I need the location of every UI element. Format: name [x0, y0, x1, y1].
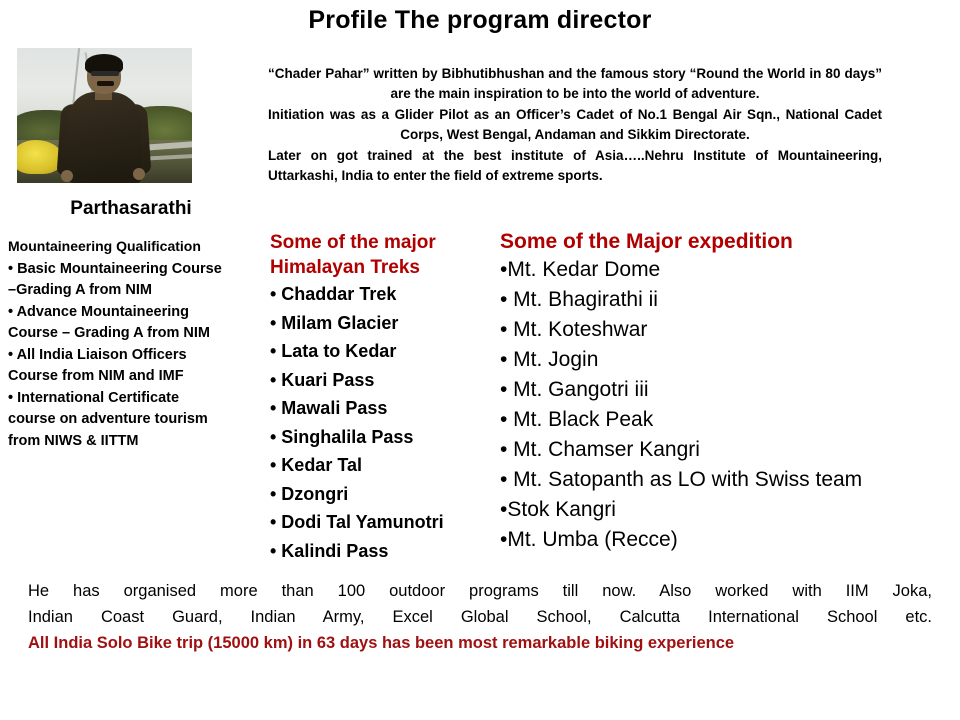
expedition-list-item: • Mt. Jogin	[500, 345, 950, 375]
qualification-line: • Advance Mountaineering	[8, 302, 260, 324]
qualification-line: course on adventure tourism	[8, 409, 260, 431]
trek-list-item: • Chaddar Trek	[270, 280, 492, 309]
qualification-line: –Grading A from NIM	[8, 280, 260, 302]
treks-heading-line-1: Some of the major	[270, 230, 492, 255]
trek-list-item: • Kalindi Pass	[270, 537, 492, 566]
photo-person-glasses	[91, 71, 119, 76]
profile-photo	[17, 48, 192, 183]
expedition-list-item: •Mt. Umba (Recce)	[500, 525, 950, 555]
qualifications-column: Mountaineering Qualification • Basic Mou…	[8, 236, 260, 452]
expedition-list-item: •Stok Kangri	[500, 495, 950, 525]
trek-list-item: • Lata to Kedar	[270, 337, 492, 366]
trek-list-item: • Mawali Pass	[270, 394, 492, 423]
treks-column: Some of the major Himalayan Treks • Chad…	[270, 230, 492, 565]
trek-list-item: • Kedar Tal	[270, 451, 492, 480]
qualifications-heading: Mountaineering Qualification	[8, 236, 260, 258]
expedition-list-item: • Mt. Koteshwar	[500, 315, 950, 345]
treks-heading-line-2: Himalayan Treks	[270, 255, 492, 280]
trek-list-item: • Milam Glacier	[270, 309, 492, 338]
expeditions-column: Some of the Major expedition •Mt. Kedar …	[500, 228, 950, 555]
trek-list-item: • Dodi Tal Yamunotri	[270, 508, 492, 537]
intro-paragraph-3: Later on got trained at the best institu…	[268, 146, 882, 186]
trek-list-item: • Dzongri	[270, 480, 492, 509]
photo-person-hand-left	[61, 170, 73, 182]
photo-person-torso	[69, 92, 141, 183]
trek-list-item: • Kuari Pass	[270, 366, 492, 395]
qualification-line: • International Certificate	[8, 388, 260, 410]
footer-line-1: He has organised more than 100 outdoor p…	[28, 578, 932, 604]
trek-list-item: • Singhalila Pass	[270, 423, 492, 452]
qualification-line: • Basic Mountaineering Course	[8, 259, 260, 281]
expedition-list-item: • Mt. Chamser Kangri	[500, 435, 950, 465]
intro-paragraph-2: Initiation was as a Glider Pilot as an O…	[268, 105, 882, 145]
expedition-list-item: • Mt. Gangotri iii	[500, 375, 950, 405]
profile-name: Parthasarathi	[0, 198, 262, 220]
qualification-line: Course from NIM and IMF	[8, 366, 260, 388]
photo-person-mustache	[97, 81, 114, 86]
expedition-list-item: • Mt. Satopanth as LO with Swiss team	[500, 465, 950, 495]
page-title: Profile The program director	[0, 6, 960, 35]
expeditions-heading: Some of the Major expedition	[500, 228, 950, 255]
footer-highlight-line: All India Solo Bike trip (15000 km) in 6…	[28, 630, 932, 656]
expedition-list-item: •Mt. Kedar Dome	[500, 255, 950, 285]
qualification-line: Course – Grading A from NIM	[8, 323, 260, 345]
expedition-list-item: • Mt. Black Peak	[500, 405, 950, 435]
intro-paragraph-1: “Chader Pahar” written by Bibhutibhushan…	[268, 64, 882, 104]
expedition-list-item: • Mt. Bhagirathi ii	[500, 285, 950, 315]
footer-line-2: Indian Coast Guard, Indian Army, Excel G…	[28, 604, 932, 630]
photo-person-hand-right	[133, 168, 145, 180]
footer-block: He has organised more than 100 outdoor p…	[28, 578, 932, 656]
qualification-line: from NIWS & IITTM	[8, 431, 260, 453]
qualification-line: • All India Liaison Officers	[8, 345, 260, 367]
intro-text-block: “Chader Pahar” written by Bibhutibhushan…	[268, 64, 882, 187]
